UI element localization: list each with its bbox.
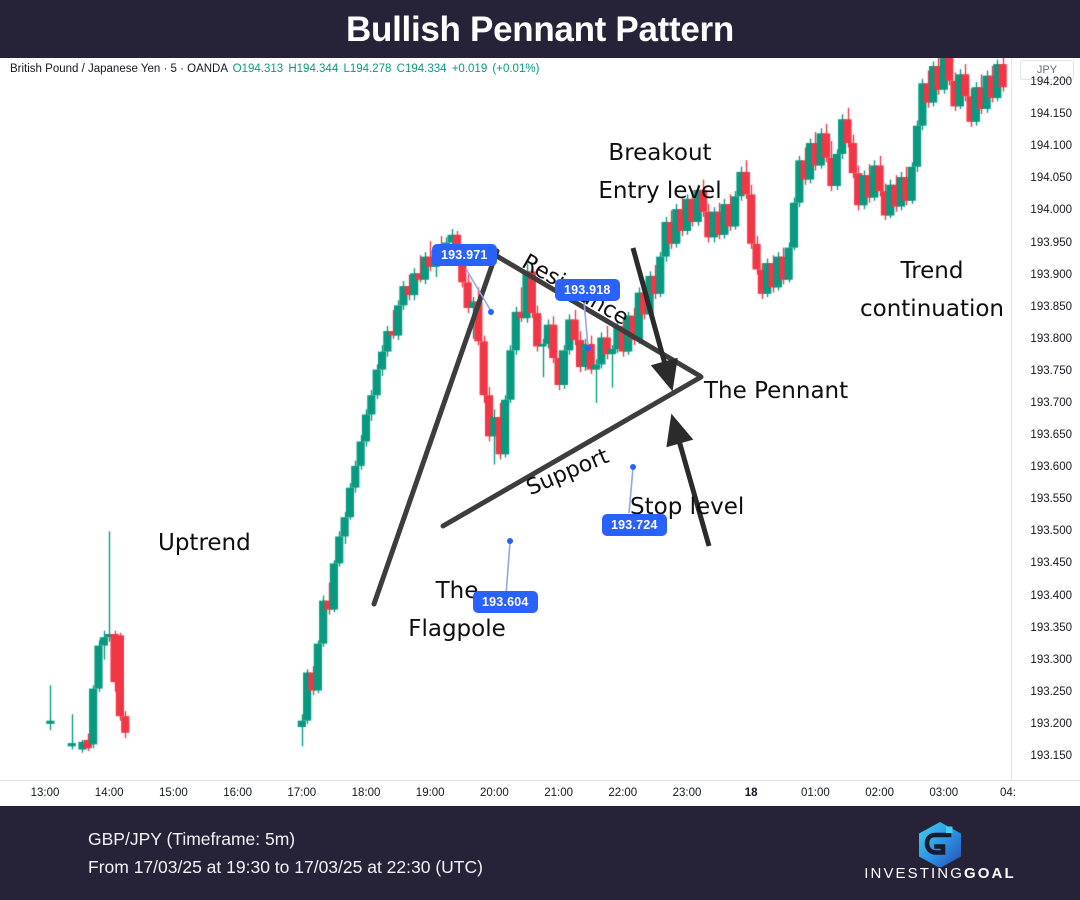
price-tick: 193.200 bbox=[1030, 718, 1072, 730]
price-tick: 193.500 bbox=[1030, 525, 1072, 537]
infographic-page: Bullish Pennant Pattern British Pound / … bbox=[0, 0, 1080, 900]
brand-logo: INVESTINGGOAL bbox=[855, 821, 1025, 887]
time-tick: 22:00 bbox=[608, 787, 637, 799]
price-badge[interactable]: 193.724 bbox=[602, 514, 667, 536]
annotation-trend-line2: continuation bbox=[860, 294, 1004, 325]
price-tick: 193.750 bbox=[1030, 365, 1072, 377]
price-tick: 193.400 bbox=[1030, 590, 1072, 602]
time-axis[interactable]: 13:0014:0015:0016:0017:0018:0019:0020:00… bbox=[0, 780, 1080, 806]
price-tick: 193.350 bbox=[1030, 622, 1072, 634]
price-tick: 193.150 bbox=[1030, 750, 1072, 762]
time-tick: 16:00 bbox=[223, 787, 252, 799]
price-tick: 194.050 bbox=[1030, 172, 1072, 184]
time-tick: 18:00 bbox=[352, 787, 381, 799]
brand-logo-text: INVESTINGGOAL bbox=[855, 865, 1025, 882]
footer-line-2: From 17/03/25 at 19:30 to 17/03/25 at 22… bbox=[88, 853, 483, 881]
price-tick: 194.150 bbox=[1030, 108, 1072, 120]
annotation-trend-line1: Trend bbox=[901, 256, 964, 287]
annotation-flagpole-line2: Flagpole bbox=[408, 614, 506, 645]
time-tick: 13:00 bbox=[31, 787, 60, 799]
price-tick: 193.950 bbox=[1030, 237, 1072, 249]
annotation-breakout-line1: Breakout bbox=[608, 138, 711, 169]
price-tick: 193.850 bbox=[1030, 301, 1072, 313]
chart-container: British Pound / Japanese Yen · 5 · OANDA… bbox=[0, 58, 1080, 806]
price-tick: 193.550 bbox=[1030, 493, 1072, 505]
brand-logo-light: INVESTING bbox=[864, 865, 964, 882]
title-banner: Bullish Pennant Pattern bbox=[0, 0, 1080, 58]
price-tick: 193.800 bbox=[1030, 333, 1072, 345]
price-tick: 194.200 bbox=[1030, 76, 1072, 88]
price-tick: 193.900 bbox=[1030, 269, 1072, 281]
candlestick-plot bbox=[0, 58, 1012, 780]
investinggoal-mark-icon bbox=[855, 821, 1025, 867]
price-tick: 193.600 bbox=[1030, 461, 1072, 473]
footer-bar: GBP/JPY (Timeframe: 5m) From 17/03/25 at… bbox=[0, 806, 1080, 900]
price-tick: 193.300 bbox=[1030, 654, 1072, 666]
price-axis[interactable]: 194.200194.150194.100194.050194.000193.9… bbox=[1012, 58, 1080, 780]
footer-text: GBP/JPY (Timeframe: 5m) From 17/03/25 at… bbox=[88, 825, 483, 882]
time-tick: 03:00 bbox=[929, 787, 958, 799]
annotation-pennant: The Pennant bbox=[704, 376, 848, 407]
price-tick: 193.250 bbox=[1030, 686, 1072, 698]
page-title: Bullish Pennant Pattern bbox=[346, 12, 734, 47]
price-tick: 194.000 bbox=[1030, 204, 1072, 216]
price-tick: 193.450 bbox=[1030, 557, 1072, 569]
annotation-breakout-line2: Entry level bbox=[598, 176, 721, 207]
footer-line-1: GBP/JPY (Timeframe: 5m) bbox=[88, 825, 483, 853]
price-badge[interactable]: 193.971 bbox=[432, 244, 497, 266]
time-tick: 01:00 bbox=[801, 787, 830, 799]
time-tick: 04: bbox=[1000, 787, 1016, 799]
time-tick: 18 bbox=[745, 787, 758, 799]
time-tick: 17:00 bbox=[287, 787, 316, 799]
time-tick: 23:00 bbox=[673, 787, 702, 799]
brand-logo-bold: GOAL bbox=[964, 865, 1016, 882]
price-badge[interactable]: 193.918 bbox=[555, 279, 620, 301]
price-tick: 194.100 bbox=[1030, 140, 1072, 152]
time-tick: 14:00 bbox=[95, 787, 124, 799]
time-tick: 15:00 bbox=[159, 787, 188, 799]
annotation-uptrend: Uptrend bbox=[158, 528, 251, 559]
annotation-flagpole-line1: The bbox=[436, 576, 479, 607]
time-tick: 20:00 bbox=[480, 787, 509, 799]
time-tick: 21:00 bbox=[544, 787, 573, 799]
price-badge[interactable]: 193.604 bbox=[473, 591, 538, 613]
time-tick: 19:00 bbox=[416, 787, 445, 799]
price-tick: 193.650 bbox=[1030, 429, 1072, 441]
price-tick: 193.700 bbox=[1030, 397, 1072, 409]
time-tick: 02:00 bbox=[865, 787, 894, 799]
